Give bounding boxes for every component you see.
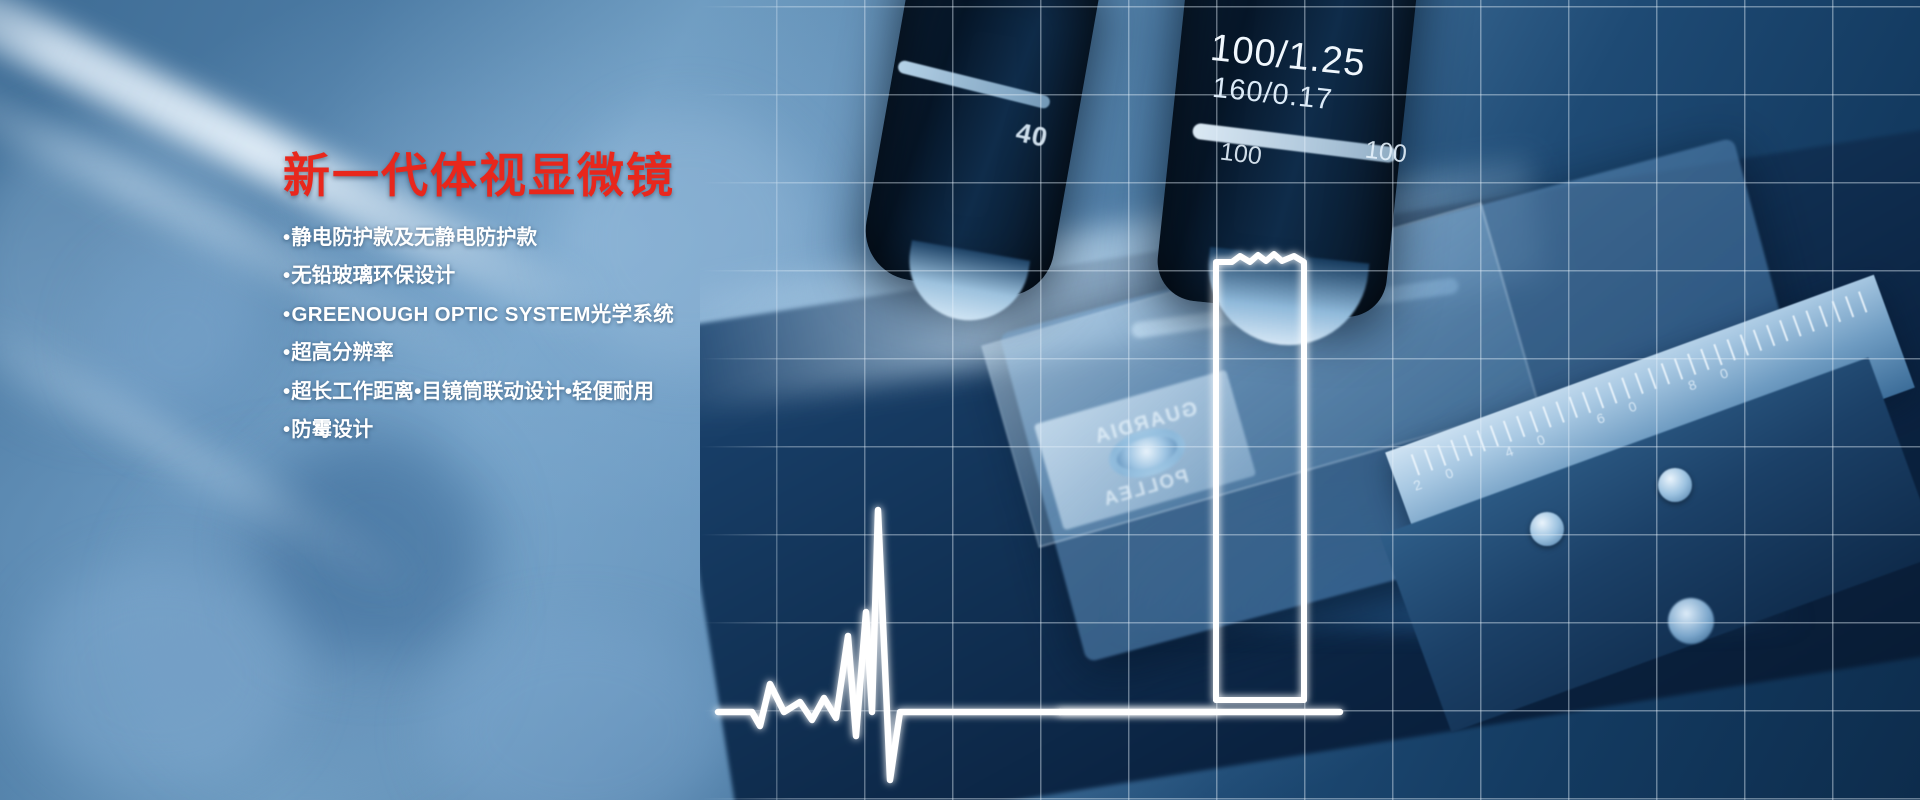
page-title: 新一代体视显微镜	[283, 150, 753, 202]
feature-list: •静电防护款及无静电防护款 •无铅玻璃环保设计 •GREENOUGH OPTIC…	[283, 228, 753, 441]
hero-copy: 新一代体视显微镜 •静电防护款及无静电防护款 •无铅玻璃环保设计 •GREENO…	[283, 150, 753, 459]
list-item-label: 超长工作距离•目镜筒联动设计•轻便耐用	[291, 380, 654, 403]
list-item-label: 防霉设计	[291, 418, 373, 441]
list-item-label: 无铅玻璃环保设计	[291, 264, 455, 287]
list-item: •无铅玻璃环保设计	[283, 266, 753, 287]
bullet-icon: •	[283, 264, 290, 287]
list-item-label: 超高分辨率	[291, 341, 394, 364]
list-item: •防霉设计	[283, 420, 753, 441]
bullet-icon: •	[283, 418, 290, 441]
list-item: •超长工作距离•目镜筒联动设计•轻便耐用	[283, 382, 753, 403]
list-item: •静电防护款及无静电防护款	[283, 228, 753, 249]
bokeh-blob	[260, 430, 490, 660]
bullet-icon: •	[283, 380, 290, 403]
measurement-grid	[700, 0, 1920, 800]
bokeh-blob	[20, 560, 300, 790]
bullet-icon: •	[283, 226, 290, 249]
list-item-label: GREENOUGH OPTIC SYSTEM光学系统	[291, 303, 674, 326]
list-item: •超高分辨率	[283, 343, 753, 364]
list-item-label: 静电防护款及无静电防护款	[291, 226, 537, 249]
list-item: •GREENOUGH OPTIC SYSTEM光学系统	[283, 305, 753, 326]
product-hero-banner: GUARDIA POLLEA 20 40 60 80 40 100/1.25 1…	[0, 0, 1920, 800]
bullet-icon: •	[283, 341, 290, 364]
bullet-icon: •	[283, 303, 290, 326]
